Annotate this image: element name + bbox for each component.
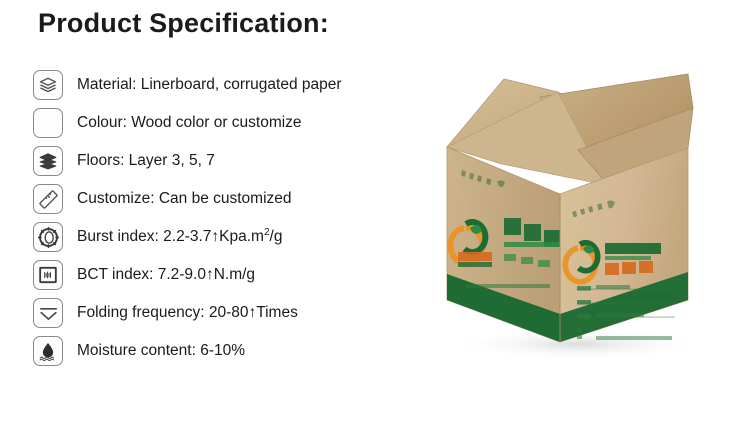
spec-row-customize: Customize: Can be customized [33, 180, 433, 218]
barcode-document-icon [33, 260, 63, 290]
carton-footer-left [466, 284, 550, 288]
spec-row-material: Material: Linerboard, corrugated paper [33, 66, 433, 104]
product-image [400, 52, 750, 372]
spec-row-bct-index: BCT index: 7.2-9.0↑N.m/g [33, 256, 433, 294]
spec-row-floors: Floors: Layer 3, 5, 7 [33, 142, 433, 180]
specification-list: Material: Linerboard, corrugated paper C… [33, 66, 433, 370]
gear-ring-icon [33, 222, 63, 252]
spec-row-folding-frequency: Folding frequency: 20-80↑Times [33, 294, 433, 332]
product-specification-page: Product Specification: Material: Linerbo… [0, 0, 750, 430]
spec-label-material: Material: Linerboard, corrugated paper [77, 76, 342, 94]
spec-label-moisture-content: Moisture content: 6-10% [77, 342, 245, 360]
spec-label-folding-frequency: Folding frequency: 20-80↑Times [77, 304, 298, 322]
ruler-icon [33, 184, 63, 214]
carton-illustration [400, 52, 750, 372]
blank-square-icon [33, 108, 63, 138]
spec-row-colour: Colour: Wood color or customize [33, 104, 433, 142]
layers-filled-icon [33, 146, 63, 176]
spec-label-burst-index: Burst index: 2.2-3.7↑Kpa.m2/g [77, 228, 282, 246]
spec-label-colour: Colour: Wood color or customize [77, 114, 302, 132]
water-drop-icon [33, 336, 63, 366]
burst-index-prefix: Burst index: 2.2-3.7↑Kpa.m [77, 228, 264, 245]
spec-label-bct-index: BCT index: 7.2-9.0↑N.m/g [77, 266, 255, 284]
spec-row-moisture-content: Moisture content: 6-10% [33, 332, 433, 370]
fold-chevron-icon [33, 298, 63, 328]
spec-row-burst-index: Burst index: 2.2-3.7↑Kpa.m2/g [33, 218, 433, 256]
spec-label-floors: Floors: Layer 3, 5, 7 [77, 152, 215, 170]
spec-label-customize: Customize: Can be customized [77, 190, 292, 208]
page-title: Product Specification: [38, 8, 329, 39]
carton-footer-front [596, 336, 672, 340]
burst-index-suffix: /g [270, 228, 283, 245]
layers-stack-icon [33, 70, 63, 100]
